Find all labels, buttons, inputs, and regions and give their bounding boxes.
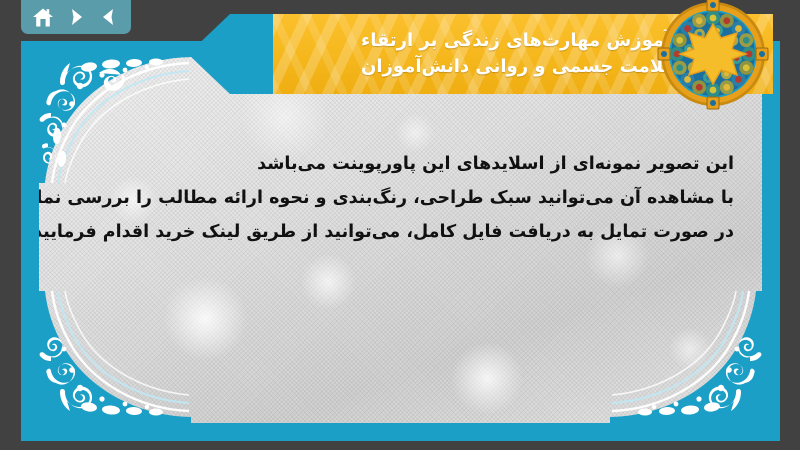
arabesque-ornament-bottom-right [610, 291, 762, 423]
slide-content-area: این تصویر نمونه‌ای از اسلایدهای این پاور… [39, 51, 762, 423]
persian-medallion-ornament [657, 0, 769, 110]
banner-left-edge [263, 14, 273, 94]
next-slide-button[interactable] [64, 5, 88, 29]
title-line-2: سلامت جسمی و روانی دانش‌آموزان [361, 54, 681, 80]
triangle-left-icon [99, 7, 119, 27]
slide-body-text: این تصویر نمونه‌ای از اسلایدهای این پاور… [79, 147, 734, 249]
home-button[interactable] [31, 5, 55, 29]
body-line-2: با مشاهده آن می‌توانید سبک طراحی، رنگ‌بن… [79, 181, 734, 215]
body-line-1: این تصویر نمونه‌ای از اسلایدهای این پاور… [79, 147, 734, 181]
home-icon [32, 7, 54, 28]
triangle-right-icon [66, 7, 86, 27]
slide-viewer: این تصویر نمونه‌ای از اسلایدهای این پاور… [0, 0, 800, 450]
previous-slide-button[interactable] [97, 5, 121, 29]
body-line-3: در صورت تمایل به دریافت فایل کامل، می‌تو… [79, 215, 734, 249]
arabesque-ornament-bottom-left [39, 291, 191, 423]
navigation-bar [21, 0, 131, 34]
